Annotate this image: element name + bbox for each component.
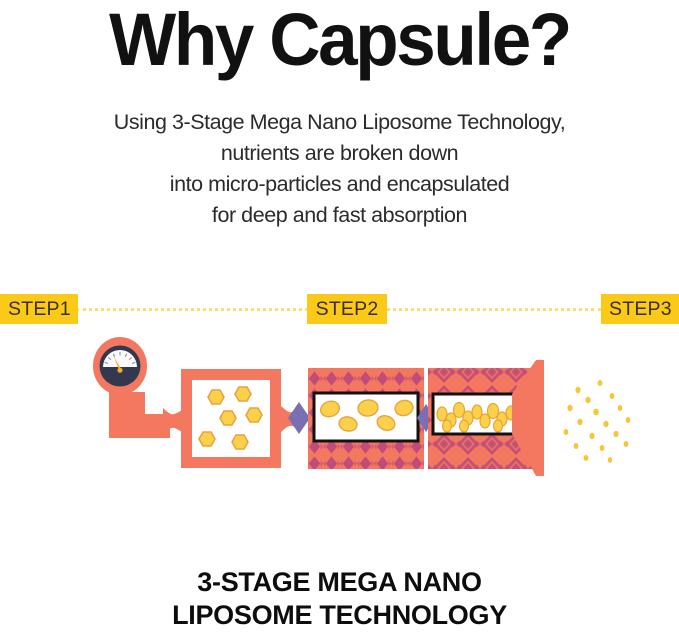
step-badge-3: STEP3 — [601, 294, 679, 324]
diamond-connector-1 — [288, 402, 310, 434]
description-line-2: nutrients are broken down — [0, 138, 679, 169]
step-badge-1: STEP1 — [0, 294, 78, 324]
footer-line-1: 3-STAGE MEGA NANO — [0, 566, 679, 599]
step-connector-2-3 — [386, 308, 602, 311]
textured-chamber-1-group — [308, 368, 424, 469]
step-connector-1-2 — [76, 308, 308, 311]
hexagon-chamber-group — [181, 369, 300, 468]
pressure-gauge-pump-group — [93, 337, 182, 438]
description-line-4: for deep and fast absorption — [0, 200, 679, 231]
textured-chamber-2-group — [428, 360, 544, 476]
description-line-3: into micro-particles and encapsulated — [0, 169, 679, 200]
output-microparticles-group — [564, 380, 631, 463]
page-title: Why Capsule? — [14, 0, 666, 83]
step-strip: STEP1 STEP2 STEP3 — [0, 294, 679, 326]
footer-caption: 3-STAGE MEGA NANO LIPOSOME TECHNOLOGY — [0, 566, 679, 632]
description-paragraph: Using 3-Stage Mega Nano Liposome Technol… — [0, 107, 679, 231]
step-badge-2: STEP2 — [307, 294, 387, 324]
description-line-1: Using 3-Stage Mega Nano Liposome Technol… — [0, 107, 679, 138]
process-illustration — [0, 336, 679, 506]
footer-line-2: LIPOSOME TECHNOLOGY — [0, 599, 679, 632]
infographic-page: Why Capsule? Using 3-Stage Mega Nano Lip… — [0, 0, 679, 636]
